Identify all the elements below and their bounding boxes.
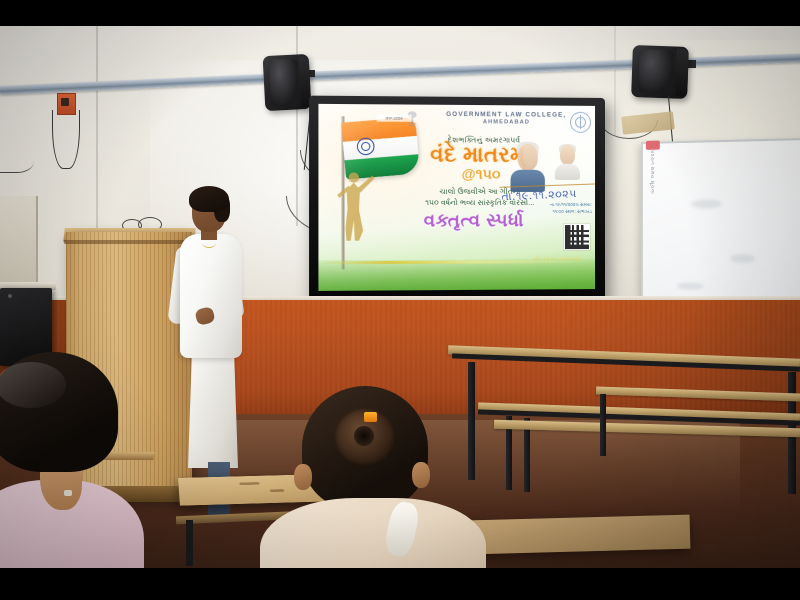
wall-speaker-left	[263, 54, 312, 111]
desk-leg	[600, 394, 606, 456]
speaker-side	[675, 49, 689, 97]
portrait-face	[560, 145, 576, 165]
speaker-at-podium	[168, 190, 254, 500]
foreground-desk-leg	[186, 520, 193, 566]
left-cabinet	[0, 196, 38, 288]
photo-scene: પ્રવચન સમય સૂચના	[0, 0, 800, 600]
portrait-dignitary	[554, 142, 581, 180]
whiteboard-smudge	[730, 254, 755, 262]
presentation-slide: GOVERNMENT LAW COLLEGE, AHMEDABAD દેશભક્…	[318, 104, 595, 291]
audience-member-front-left	[0, 352, 158, 600]
audience-ring	[64, 490, 72, 496]
flag-bearer-silhouette	[333, 167, 379, 243]
presenter-hair	[189, 186, 229, 212]
portrait-torso	[554, 164, 580, 180]
letterbox-bar-bottom	[0, 568, 800, 600]
speaker-grille	[638, 49, 674, 94]
slide-green-footer	[318, 259, 595, 291]
institution-name-line2: AHMEDABAD	[422, 119, 590, 126]
institution-name-line1: GOVERNMENT LAW COLLEGE,	[422, 111, 590, 119]
presenter-necklace	[202, 238, 216, 248]
letterbox-bar-top	[0, 0, 800, 26]
whiteboard-smudge	[691, 199, 722, 208]
presenter-kurta-top	[180, 234, 242, 358]
college-crest-icon	[570, 112, 591, 133]
panel-screen: GOVERNMENT LAW COLLEGE, AHMEDABAD દેશભક્…	[318, 104, 595, 291]
whiteboard-clip	[646, 141, 660, 150]
portrait-face	[517, 144, 538, 171]
slide-header: GOVERNMENT LAW COLLEGE, AHMEDABAD	[422, 111, 590, 126]
audience-ear	[294, 464, 312, 490]
hair-clip	[364, 412, 377, 422]
presenter-kurta-lower	[188, 350, 238, 468]
registration-qr-code[interactable]	[564, 224, 590, 250]
desk-scratch	[239, 482, 260, 485]
interactive-flat-panel[interactable]: GOVERNMENT LAW COLLEGE, AHMEDABAD દેશભક્…	[309, 96, 605, 309]
wall-speaker-right	[631, 45, 689, 99]
hanging-cable	[0, 150, 34, 173]
audience-ear	[412, 462, 430, 488]
portrait-prime-minister	[510, 140, 546, 192]
audience-hair	[0, 352, 118, 472]
panel-asset-tag: IFP-2254	[377, 114, 412, 121]
whiteboard-smudge	[677, 282, 703, 289]
ashoka-chakra-icon	[357, 138, 375, 155]
whiteboard-side-writing: પ્રવચન સમય સૂચના	[645, 150, 655, 206]
speaker-grille	[268, 59, 299, 107]
slide-fine-print: તા.૧૯/૧૧/૨૦૨૫ સમય: ૧૧:૦૦ સ્થળ: સભાખંડ	[538, 202, 592, 216]
